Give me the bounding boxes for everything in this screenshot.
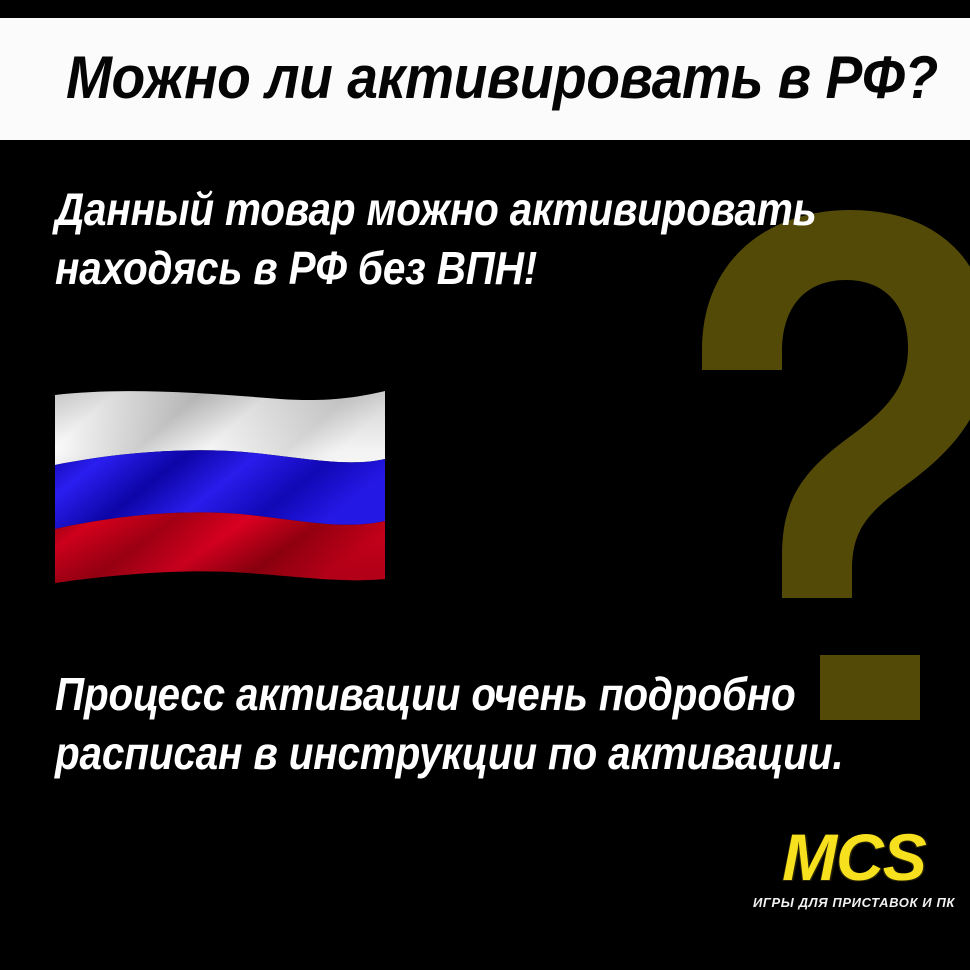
brand-logo-mark: MCS — [748, 826, 960, 889]
paragraph-instruction-notice-text: Процесс активации очень подробно расписа… — [55, 665, 865, 783]
paragraph-instruction-notice: Процесс активации очень подробно расписа… — [55, 665, 970, 783]
page-title: Можно ли активировать в РФ? — [66, 48, 970, 108]
promo-poster: Можно ли активировать в РФ? Данный товар… — [0, 0, 970, 970]
brand-logo: MCS ИГРЫ ДЛЯ ПРИСТАВОК И ПК — [748, 826, 960, 910]
paragraph-activation-notice-text: Данный товар можно активировать находясь… — [55, 180, 847, 298]
russian-flag-image — [55, 383, 385, 583]
title-banner: Можно ли активировать в РФ? — [0, 18, 970, 140]
page-title-text: Можно ли активировать в РФ? — [66, 48, 938, 108]
paragraph-activation-notice: Данный товар можно активировать находясь… — [55, 180, 955, 298]
brand-logo-tagline: ИГРЫ ДЛЯ ПРИСТАВОК И ПК — [748, 895, 960, 910]
